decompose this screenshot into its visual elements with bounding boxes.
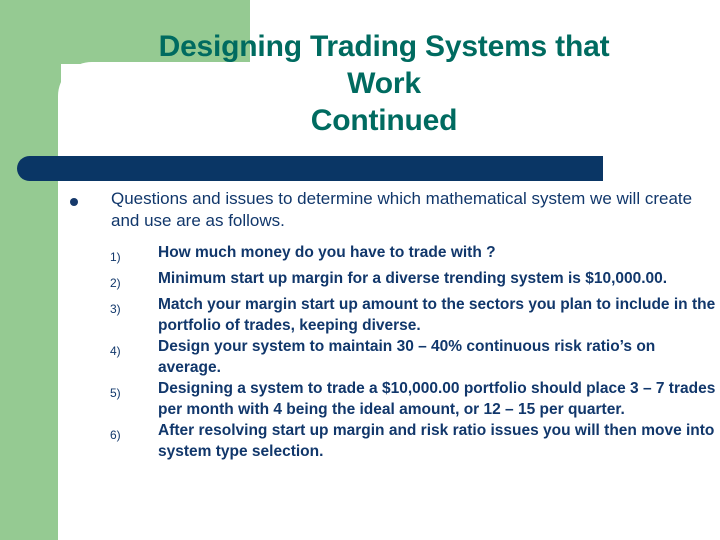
title-line-1: Designing Trading Systems that (60, 28, 708, 65)
list-item-text: How much money do you have to trade with… (158, 243, 720, 264)
list-item-marker: 6) (110, 421, 158, 446)
title-line-2: Work (60, 65, 708, 102)
list-item-marker: 3) (110, 295, 158, 320)
list-item-text: Match your margin start up amount to the… (158, 295, 720, 336)
title-line-3: Continued (60, 102, 708, 139)
list-item: 1) How much money do you have to trade w… (110, 243, 720, 268)
lead-paragraph: Questions and issues to determine which … (111, 188, 720, 232)
list-item-text: After resolving start up margin and risk… (158, 421, 720, 462)
list-item-marker: 2) (110, 269, 158, 294)
list-item: 3) Match your margin start up amount to … (110, 295, 720, 336)
list-item: 2) Minimum start up margin for a diverse… (110, 269, 720, 294)
list-item-text: Minimum start up margin for a diverse tr… (158, 269, 720, 290)
green-side-strip (0, 0, 61, 540)
list-item-marker: 5) (110, 379, 158, 404)
list-item: 6) After resolving start up margin and r… (110, 421, 720, 462)
slide-body: Questions and issues to determine which … (62, 188, 720, 463)
list-item-text: Designing a system to trade a $10,000.00… (158, 379, 720, 420)
page-title: Designing Trading Systems that Work Cont… (60, 28, 708, 139)
bullet-dot-icon (70, 198, 78, 206)
list-item-text: Design your system to maintain 30 – 40% … (158, 337, 720, 378)
slide-canvas: Designing Trading Systems that Work Cont… (0, 0, 720, 540)
list-item-marker: 1) (110, 243, 158, 268)
list-item: 4) Design your system to maintain 30 – 4… (110, 337, 720, 378)
list-item-marker: 4) (110, 337, 158, 362)
lead-bullet-row: Questions and issues to determine which … (62, 188, 720, 232)
navy-divider-bar (17, 156, 603, 181)
numbered-list: 1) How much money do you have to trade w… (62, 243, 720, 462)
list-item: 5) Designing a system to trade a $10,000… (110, 379, 720, 420)
